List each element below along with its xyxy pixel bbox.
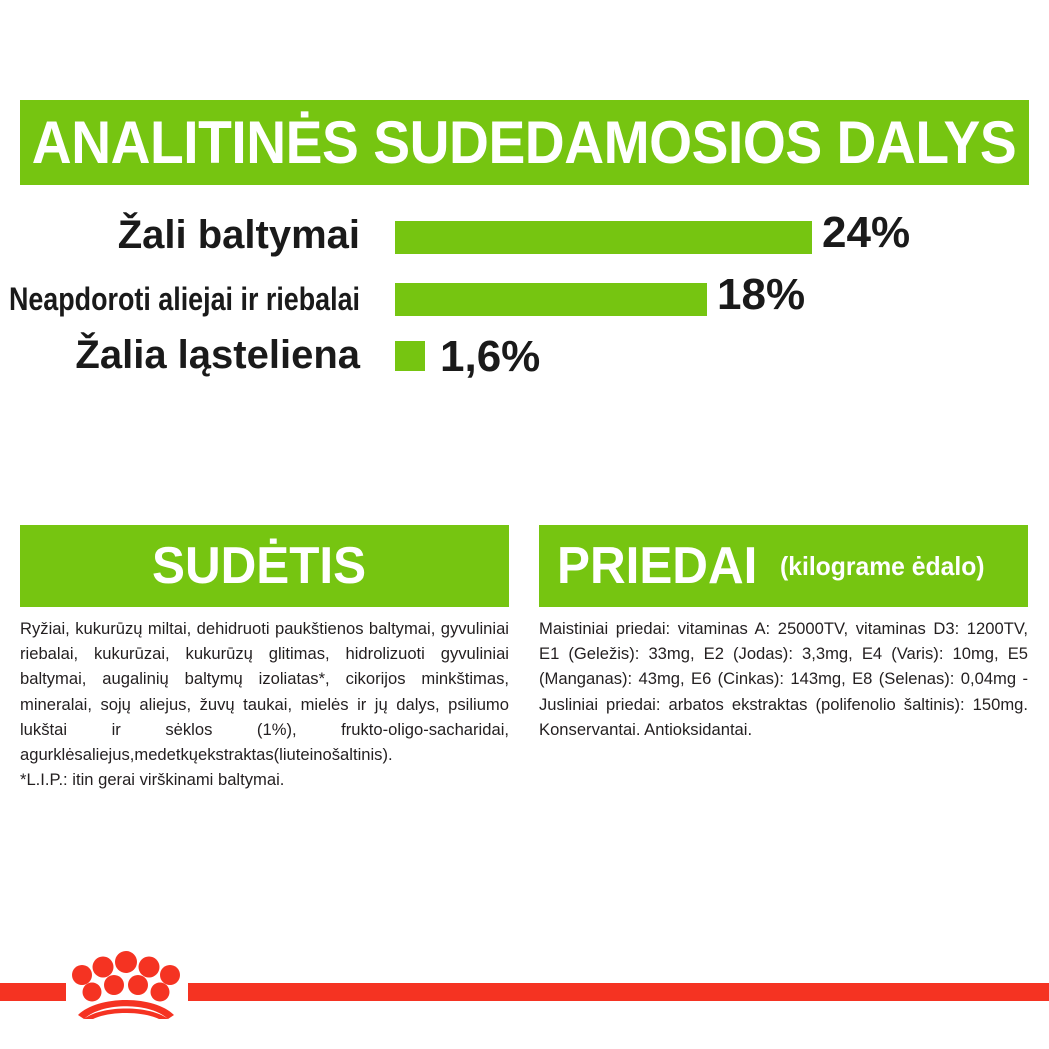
footer-rule-right <box>188 983 1049 1001</box>
bar-label-fibre: Žalia ląsteliena <box>0 335 360 375</box>
composition-text: Ryžiai, kukurūzų miltai, dehidruoti pauk… <box>20 616 509 767</box>
bar-label-protein: Žali baltymai <box>0 215 360 255</box>
composition-footnote: *L.I.P.: itin gerai virškinami baltymai. <box>20 767 509 792</box>
additives-text: Maistiniai priedai: vitaminas A: 25000TV… <box>539 616 1028 742</box>
bar-value-fat: 18% <box>717 273 805 317</box>
footer-rule-left <box>0 983 66 1001</box>
bar-fill-fat <box>395 283 707 316</box>
additives-heading-bar: PRIEDAI (kilograme ėdalo) <box>539 525 1028 607</box>
bar-value-protein: 24% <box>822 211 910 255</box>
additives-column: PRIEDAI (kilograme ėdalo) Maistiniai pri… <box>539 525 1028 793</box>
composition-heading-bar: SUDĖTIS <box>20 525 509 607</box>
bar-track-protein <box>395 221 812 254</box>
bar-fill-protein <box>395 221 812 254</box>
composition-heading: SUDĖTIS <box>152 540 366 592</box>
additives-heading-sub: (kilograme ėdalo) <box>780 553 985 579</box>
bar-track-fat <box>395 283 707 316</box>
analytical-constituents-chart: Žali baltymai 24% Neapdoroti aliejai ir … <box>0 205 1049 391</box>
chart-row: Neapdoroti aliejai ir riebalai 18% <box>0 267 1049 329</box>
analytical-constituents-banner: ANALITINĖS SUDEDAMOSIOS DALYS <box>20 100 1029 185</box>
bar-value-fibre: 1,6% <box>440 335 540 379</box>
page-title: ANALITINĖS SUDEDAMOSIOS DALYS <box>32 113 1016 173</box>
royal-canin-crown-icon <box>70 947 182 1019</box>
composition-column: SUDĖTIS Ryžiai, kukurūzų miltai, dehidru… <box>20 525 509 793</box>
details-columns: SUDĖTIS Ryžiai, kukurūzų miltai, dehidru… <box>20 525 1029 793</box>
chart-row: Žali baltymai 24% <box>0 205 1049 267</box>
additives-heading: PRIEDAI <box>557 540 757 592</box>
chart-row: Žalia ląsteliena 1,6% <box>0 329 1049 391</box>
bar-label-fat: Neapdoroti aliejai ir riebalai <box>7 283 360 315</box>
bar-fill-fibre <box>395 341 425 371</box>
